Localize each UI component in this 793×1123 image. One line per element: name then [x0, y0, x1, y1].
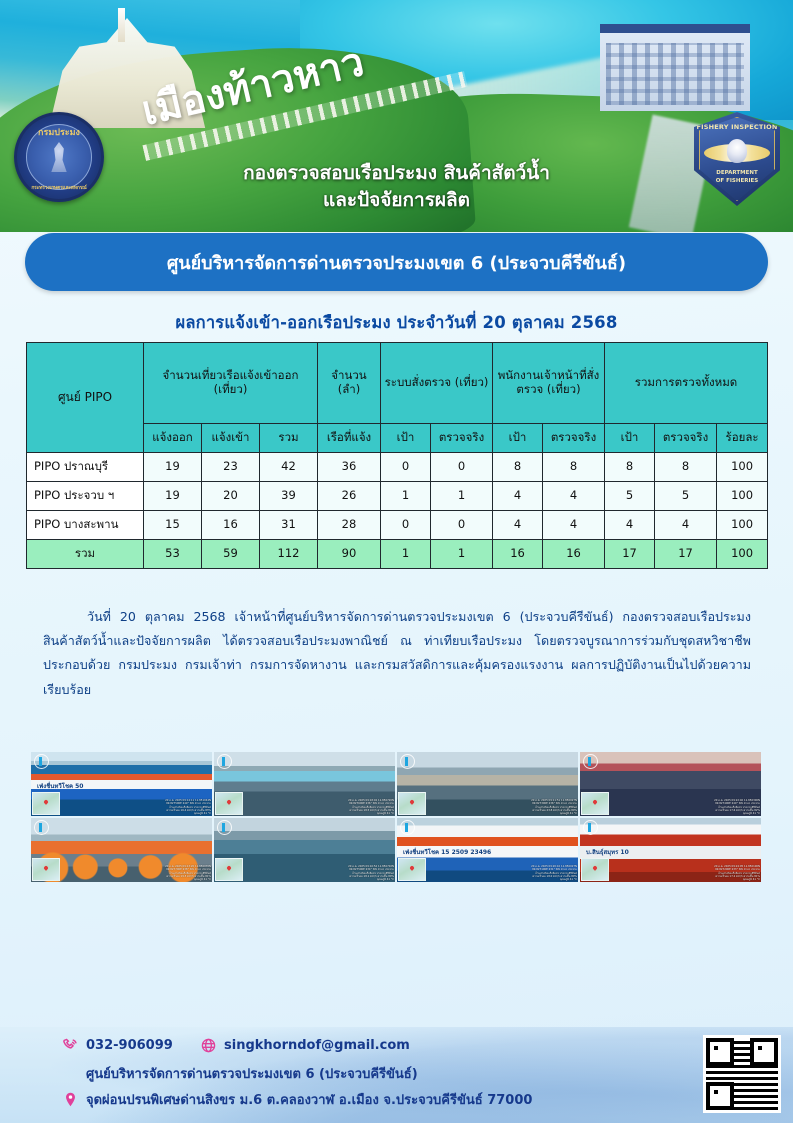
gps-ring-icon [217, 754, 232, 769]
report-body-paragraph: วันที่ 20 ตุลาคม 2568 เจ้าหน้าที่ศูนย์บร… [43, 605, 751, 702]
phone-icon [62, 1037, 79, 1054]
photo-gps-stamp: 20 ต.ค. 2025 09:20:10 11.850027N 99.8271… [531, 865, 577, 881]
cell-total-value: 17 [655, 540, 717, 569]
photo-gps-stamp: 20 ต.ค. 2025 09:14:11 11.851044N 99.8275… [165, 799, 211, 815]
hero-temple-spire [118, 8, 125, 42]
th-group-officer-order: พนักงานเจ้าหน้าที่สั่งตรวจ (เที่ยว) [493, 343, 605, 424]
photo-gps-stamp: 20 ต.ค. 2025 09:16:52 11.850702N 99.8275… [348, 865, 394, 881]
gps-ring-icon [583, 820, 598, 835]
photo-net-inspection: 20 ต.ค. 2025 09:16:52 11.850702N 99.8275… [214, 818, 395, 882]
gps-ring-icon [34, 754, 49, 769]
cell-value: 20 [202, 482, 260, 511]
cell-value: 4 [543, 511, 605, 540]
results-table-wrapper: ศูนย์ PIPO จำนวนเที่ยวเรือแจ้งเข้าออก (เ… [26, 342, 767, 569]
cell-value: 100 [717, 482, 768, 511]
qr-code[interactable] [703, 1035, 781, 1113]
cell-value: 100 [717, 511, 768, 540]
cell-center-name: PIPO ปราณบุรี [27, 453, 144, 482]
cell-value: 19 [144, 453, 202, 482]
cell-value: 100 [717, 453, 768, 482]
cell-value: 4 [493, 482, 543, 511]
photo-minimap-icon [398, 792, 426, 815]
badge-top-text: FISHERY INSPECTION [694, 123, 780, 131]
th-group-count: จำนวน (ลำ) [318, 343, 381, 424]
photo-grid: เฟ่งชื่นทวีโชค 50 20 ต.ค. 2025 09:14:11 … [31, 752, 761, 882]
cell-total-value: 16 [493, 540, 543, 569]
cell-value: 0 [431, 453, 493, 482]
department-title-line1: กองตรวจสอบเรือประมง สินค้าสัตว์น้ำ [0, 160, 793, 187]
photo-caption: บ.สินธุ์สมุทร 10 [586, 847, 629, 857]
footer: 032-906099 singkhorndof@gmail.com ศูนย์บ… [0, 1027, 793, 1123]
th-sub-10: ร้อยละ [717, 424, 768, 453]
photo-gps-stamp: 20 ต.ค. 2025 09:24:05 11.850100N 99.8272… [714, 865, 760, 881]
gps-ring-icon [583, 754, 598, 769]
cell-center-name: PIPO บางสะพาน [27, 511, 144, 540]
cell-value: 26 [318, 482, 381, 511]
photo-minimap-icon [581, 858, 609, 881]
cell-value: 39 [260, 482, 318, 511]
cell-value: 42 [260, 453, 318, 482]
hero-building [600, 24, 750, 111]
th-sub-6: เป้า [493, 424, 543, 453]
department-title: กองตรวจสอบเรือประมง สินค้าสัตว์น้ำ และปั… [0, 160, 793, 214]
th-group-system-order: ระบบสั่งตรวจ (เที่ยว) [381, 343, 493, 424]
th-sub-1: แจ้งเข้า [202, 424, 260, 453]
photo-boat-red-sinsamut: บ.สินธุ์สมุทร 10 20 ต.ค. 2025 09:24:05 1… [580, 818, 761, 882]
cell-value: 8 [655, 453, 717, 482]
photo-crew-lineup: 20 ต.ค. 2025 09:13:20 11.850070N 99.8277… [31, 818, 212, 882]
footer-address-text: จุดผ่อนปรนพิเศษด่านสิงขร ม.6 ต.คลองวาฬ อ… [86, 1089, 532, 1110]
table-row: PIPO บางสะพาน 15 16 31 28 0 0 4 4 4 4 10… [27, 511, 768, 540]
th-sub-3: เรือที่แจ้ง [318, 424, 381, 453]
photo-minimap-icon [32, 792, 60, 815]
th-sub-2: รวม [260, 424, 318, 453]
th-group-trips: จำนวนเที่ยวเรือแจ้งเข้าออก (เที่ยว) [144, 343, 318, 424]
photo-boat-name-blue: เฟ่งชื่นทวีโชค 50 20 ต.ค. 2025 09:14:11 … [31, 752, 212, 816]
photo-officers-on-deck: 20 ต.ค. 2025 09:18:02 11.850720N 99.8276… [214, 752, 395, 816]
photo-minimap-icon [581, 792, 609, 815]
table-group-header-row: ศูนย์ PIPO จำนวนเที่ยวเรือแจ้งเข้าออก (เ… [27, 343, 768, 424]
cell-value: 4 [605, 511, 655, 540]
cell-value: 4 [493, 511, 543, 540]
gps-ring-icon [217, 820, 232, 835]
cell-total-value: 59 [202, 540, 260, 569]
th-pipo-center: ศูนย์ PIPO [27, 343, 144, 453]
th-sub-4: เป้า [381, 424, 431, 453]
department-title-line2: และปัจจัยการผลิต [0, 187, 793, 214]
cell-value: 1 [431, 482, 493, 511]
th-sub-9: ตรวจจริง [655, 424, 717, 453]
cell-total-value: 90 [318, 540, 381, 569]
qr-eye-bottom-left [706, 1082, 734, 1110]
photo-gps-stamp: 20 ต.ค. 2025 09:11:51 11.850027N 99.8273… [531, 799, 577, 815]
cell-value: 8 [543, 453, 605, 482]
report-title: ผลการแจ้งเข้า-ออกเรือประมง ประจำวันที่ 2… [0, 310, 793, 336]
cell-total-value: 16 [543, 540, 605, 569]
cell-value: 28 [318, 511, 381, 540]
cell-total-value: 1 [381, 540, 431, 569]
globe-icon [200, 1037, 217, 1054]
cell-value: 8 [493, 453, 543, 482]
cell-value: 31 [260, 511, 318, 540]
photo-gps-stamp: 20 ต.ค. 2025 09:18:02 11.850720N 99.8276… [348, 799, 394, 815]
photo-boat-bow-2509: เฟ่งชื่นทวีโชค 15 2509 23496 20 ต.ค. 202… [397, 818, 578, 882]
cell-value: 23 [202, 453, 260, 482]
cell-value: 4 [543, 482, 605, 511]
th-group-total-inspect: รวมการตรวจทั้งหมด [605, 343, 768, 424]
qr-code-pattern [706, 1038, 778, 1110]
cell-total-label: รวม [27, 540, 144, 569]
photo-dockside-inspection: 20 ต.ค. 2025 09:11:51 11.850027N 99.8273… [397, 752, 578, 816]
qr-eye-top-left [706, 1038, 734, 1066]
photo-crew-document-check: 20 ต.ค. 2025 09:22:40 11.850300N 99.8274… [580, 752, 761, 816]
cell-value: 19 [144, 482, 202, 511]
footer-address: จุดผ่อนปรนพิเศษด่านสิงขร ม.6 ต.คลองวาฬ อ… [62, 1089, 532, 1110]
hero-banner: เมืองท้าวหาว กรมประมง กระทรวงเกษตรและสหก… [0, 0, 793, 232]
th-sub-7: ตรวจจริง [543, 424, 605, 453]
footer-email[interactable]: singkhorndof@gmail.com [200, 1037, 410, 1054]
cell-value: 0 [431, 511, 493, 540]
paragraph-text: วันที่ 20 ตุลาคม 2568 เจ้าหน้าที่ศูนย์บร… [43, 609, 751, 697]
gps-ring-icon [34, 820, 49, 835]
cell-center-name: PIPO ประจวบ ฯ [27, 482, 144, 511]
cell-total-value: 17 [605, 540, 655, 569]
gps-ring-icon [400, 754, 415, 769]
cell-value: 1 [381, 482, 431, 511]
cell-value: 15 [144, 511, 202, 540]
cell-value: 36 [318, 453, 381, 482]
table-row: PIPO ประจวบ ฯ 19 20 39 26 1 1 4 4 5 5 10… [27, 482, 768, 511]
gps-ring-icon [400, 820, 415, 835]
cell-total-value: 112 [260, 540, 318, 569]
table-body: PIPO ปราณบุรี 19 23 42 36 0 0 8 8 8 8 10… [27, 453, 768, 569]
th-sub-0: แจ้งออก [144, 424, 202, 453]
photo-gps-stamp: 20 ต.ค. 2025 09:13:20 11.850070N 99.8277… [165, 865, 211, 881]
qr-eye-top-right [750, 1038, 778, 1066]
center-name-banner: ศูนย์บริหารจัดการด่านตรวจประมงเขต 6 (ประ… [25, 233, 768, 291]
cell-value: 4 [655, 511, 717, 540]
photo-minimap-icon [398, 858, 426, 881]
footer-center-name: ศูนย์บริหารจัดการด่านตรวจประมงเขต 6 (ประ… [62, 1063, 418, 1084]
cell-total-value: 100 [717, 540, 768, 569]
footer-phone: 032-906099 [62, 1037, 173, 1054]
photo-caption: เฟ่งชื่นทวีโชค 15 2509 23496 [403, 847, 491, 857]
footer-phone-text: 032-906099 [86, 1038, 173, 1053]
photo-minimap-icon [32, 858, 60, 881]
cell-value: 0 [381, 511, 431, 540]
cell-value: 5 [605, 482, 655, 511]
cell-total-value: 53 [144, 540, 202, 569]
cell-value: 8 [605, 453, 655, 482]
photo-minimap-icon [215, 858, 243, 881]
seal-top-text: กรมประมง [17, 125, 101, 139]
cell-value: 16 [202, 511, 260, 540]
cell-value: 0 [381, 453, 431, 482]
cell-value: 5 [655, 482, 717, 511]
location-pin-icon [62, 1091, 79, 1108]
table-total-row: รวม 53 59 112 90 1 1 16 16 17 17 100 [27, 540, 768, 569]
th-sub-5: ตรวจจริง [431, 424, 493, 453]
table-row: PIPO ปราณบุรี 19 23 42 36 0 0 8 8 8 8 10… [27, 453, 768, 482]
results-table: ศูนย์ PIPO จำนวนเที่ยวเรือแจ้งเข้าออก (เ… [26, 342, 768, 569]
photo-minimap-icon [215, 792, 243, 815]
photo-gps-stamp: 20 ต.ค. 2025 09:22:40 11.850300N 99.8274… [714, 799, 760, 815]
footer-email-text: singkhorndof@gmail.com [224, 1038, 410, 1053]
footer-center-name-text: ศูนย์บริหารจัดการด่านตรวจประมงเขต 6 (ประ… [86, 1063, 418, 1084]
cell-total-value: 1 [431, 540, 493, 569]
table-head: ศูนย์ PIPO จำนวนเที่ยวเรือแจ้งเข้าออก (เ… [27, 343, 768, 453]
photo-caption: เฟ่งชื่นทวีโชค 50 [37, 781, 83, 791]
th-sub-8: เป้า [605, 424, 655, 453]
